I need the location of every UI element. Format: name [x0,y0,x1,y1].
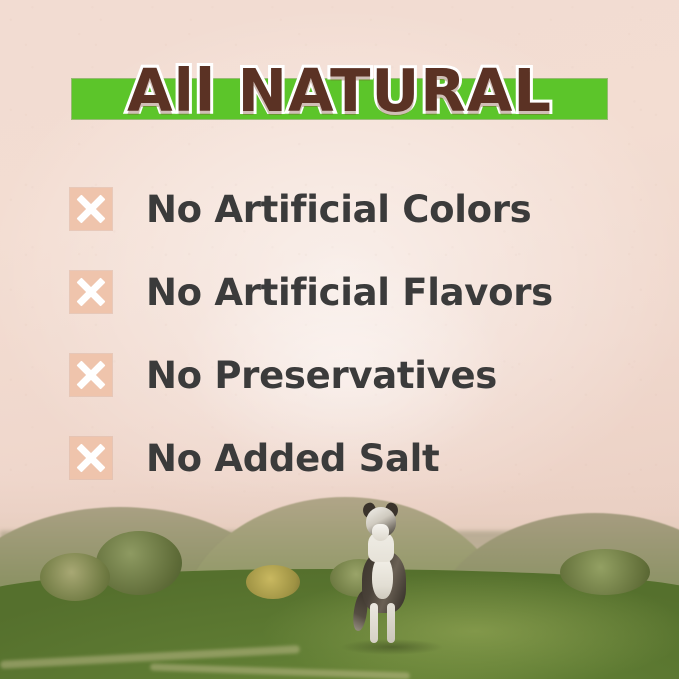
list-item-label: No Artificial Flavors [146,271,553,314]
x-mark-icon [70,271,112,313]
x-mark-icon [70,437,112,479]
list-item-label: No Added Salt [146,437,439,480]
bush [96,531,182,595]
list-item: No Artificial Colors [70,168,610,250]
x-mark-icon [70,354,112,396]
page-title: All NATURAL [0,56,679,126]
list-item: No Artificial Flavors [70,251,610,333]
dog-meadow-photo [0,479,679,679]
dog-muzzle [372,524,389,541]
bush [560,549,650,595]
feature-list: No Artificial Colors No Artificial Flavo… [70,168,610,500]
dog-front-leg-left [370,603,378,643]
dog-front-leg-right [387,603,395,643]
list-item: No Preservatives [70,334,610,416]
headline-banner: All NATURAL [0,62,679,124]
list-item: No Added Salt [70,417,610,499]
x-mark-icon [70,188,112,230]
bush [40,553,110,601]
list-item-label: No Preservatives [146,354,497,397]
product-feature-poster: All NATURAL No Artificial Colors No Arti… [0,0,679,679]
yellow-shrub [246,565,300,599]
dog-silhouette [352,507,426,647]
list-item-label: No Artificial Colors [146,188,531,231]
